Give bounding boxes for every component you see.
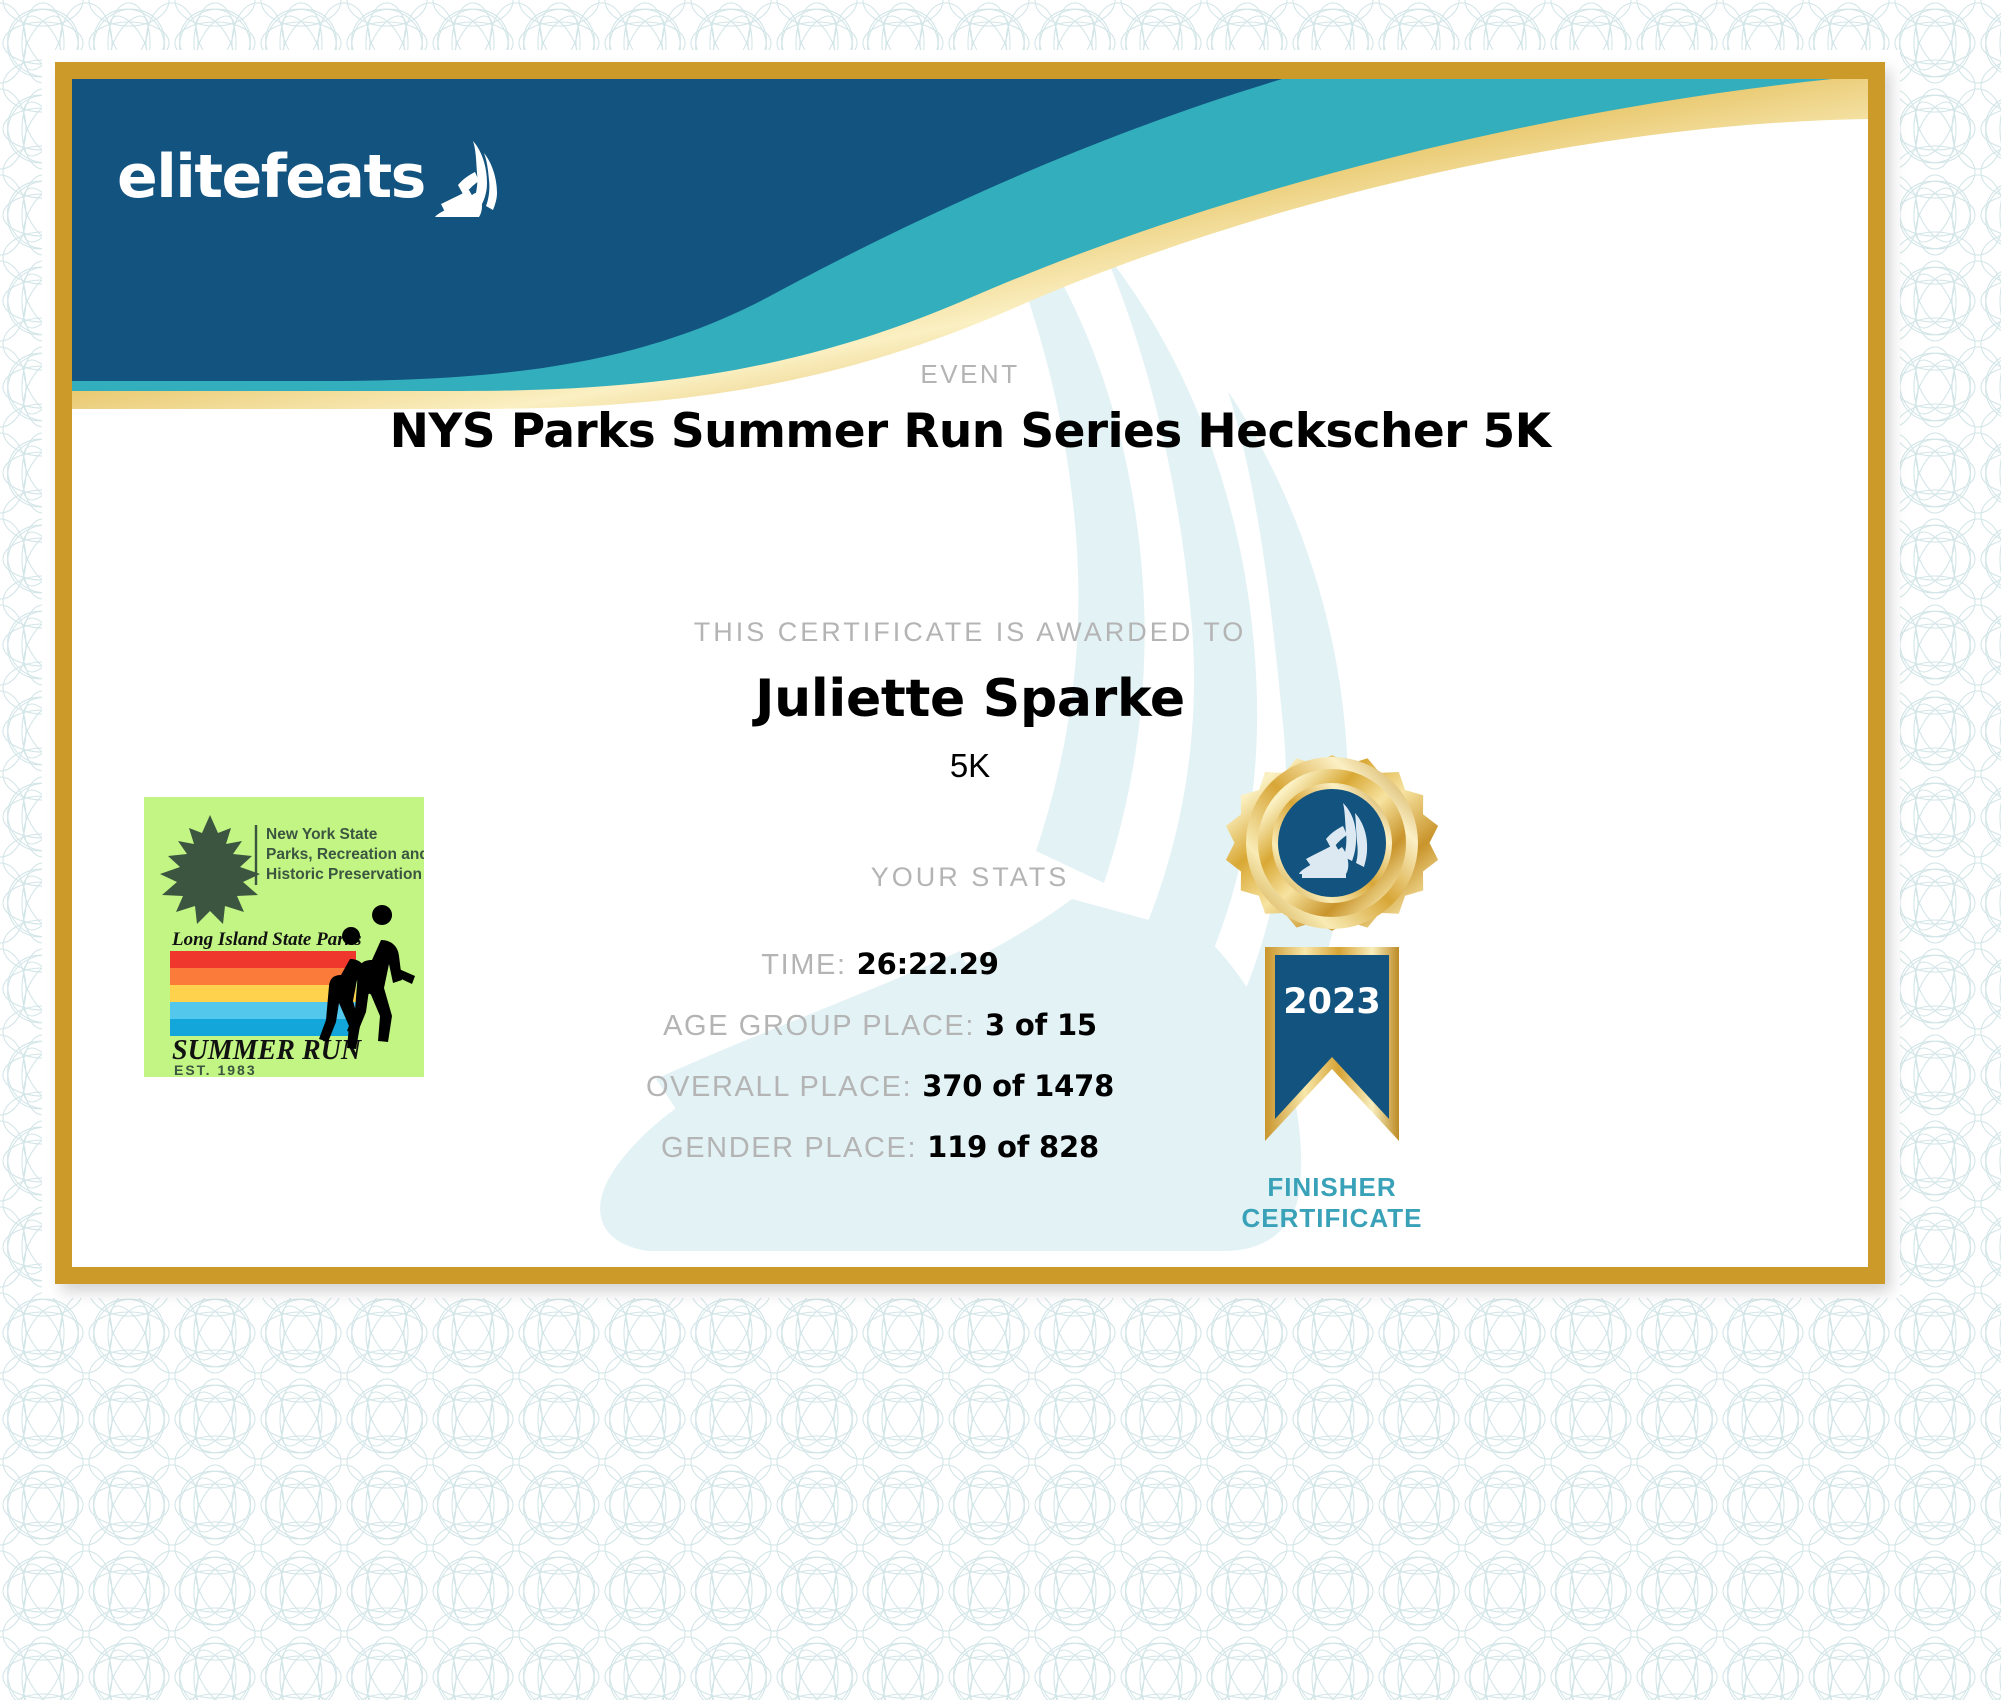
stat-value: 26:22.29 [857,947,999,981]
finisher-medal-badge: 2023 [1209,751,1455,1171]
event-label: EVENT [72,359,1868,390]
medal-caption: FINISHER CERTIFICATE [1172,1172,1492,1233]
sponsor-series-title: Long Island State Parks [171,929,362,950]
sponsor-logo-nys-parks: New York State Parks, Recreation and His… [144,797,424,1077]
certificate-body: elitefeats EVENT NYS Parks Summer Run Se… [72,79,1868,1267]
sponsor-agency-line1: New York State [266,826,378,843]
sponsor-established: EST. 1983 [174,1062,257,1077]
stat-key: AGE GROUP PLACE: [663,1010,975,1043]
sponsor-agency-line3: Historic Preservation [266,866,422,883]
stat-key: GENDER PLACE: [661,1132,917,1165]
medal-rosette [1218,755,1446,983]
stat-value: 119 of 828 [927,1130,1099,1164]
stat-key: OVERALL PLACE: [646,1071,912,1104]
recipient-distance: 5K [72,747,1868,785]
certificate-gold-frame: elitefeats EVENT NYS Parks Summer Run Se… [55,62,1885,1284]
stat-key: TIME: [761,949,846,982]
event-title: NYS Parks Summer Run Series Heckscher 5K [72,404,1868,459]
certificate-content: EVENT NYS Parks Summer Run Series Hecksc… [72,79,1868,1267]
stat-value: 370 of 1478 [922,1069,1114,1103]
recipient-name: Juliette Sparke [72,669,1868,729]
stat-row-gender-place: GENDER PLACE: 119 of 828 [72,1130,1868,1165]
medal-year-text: 2023 [1283,982,1380,1022]
awarded-to-label: THIS CERTIFICATE IS AWARDED TO [72,617,1868,648]
certificate-page: elitefeats EVENT NYS Parks Summer Run Se… [0,0,2001,1700]
stat-value: 3 of 15 [985,1008,1097,1042]
medal-caption-line2: CERTIFICATE [1172,1203,1492,1234]
medal-caption-line1: FINISHER [1172,1172,1492,1203]
sponsor-agency-line2: Parks, Recreation and [266,846,424,863]
